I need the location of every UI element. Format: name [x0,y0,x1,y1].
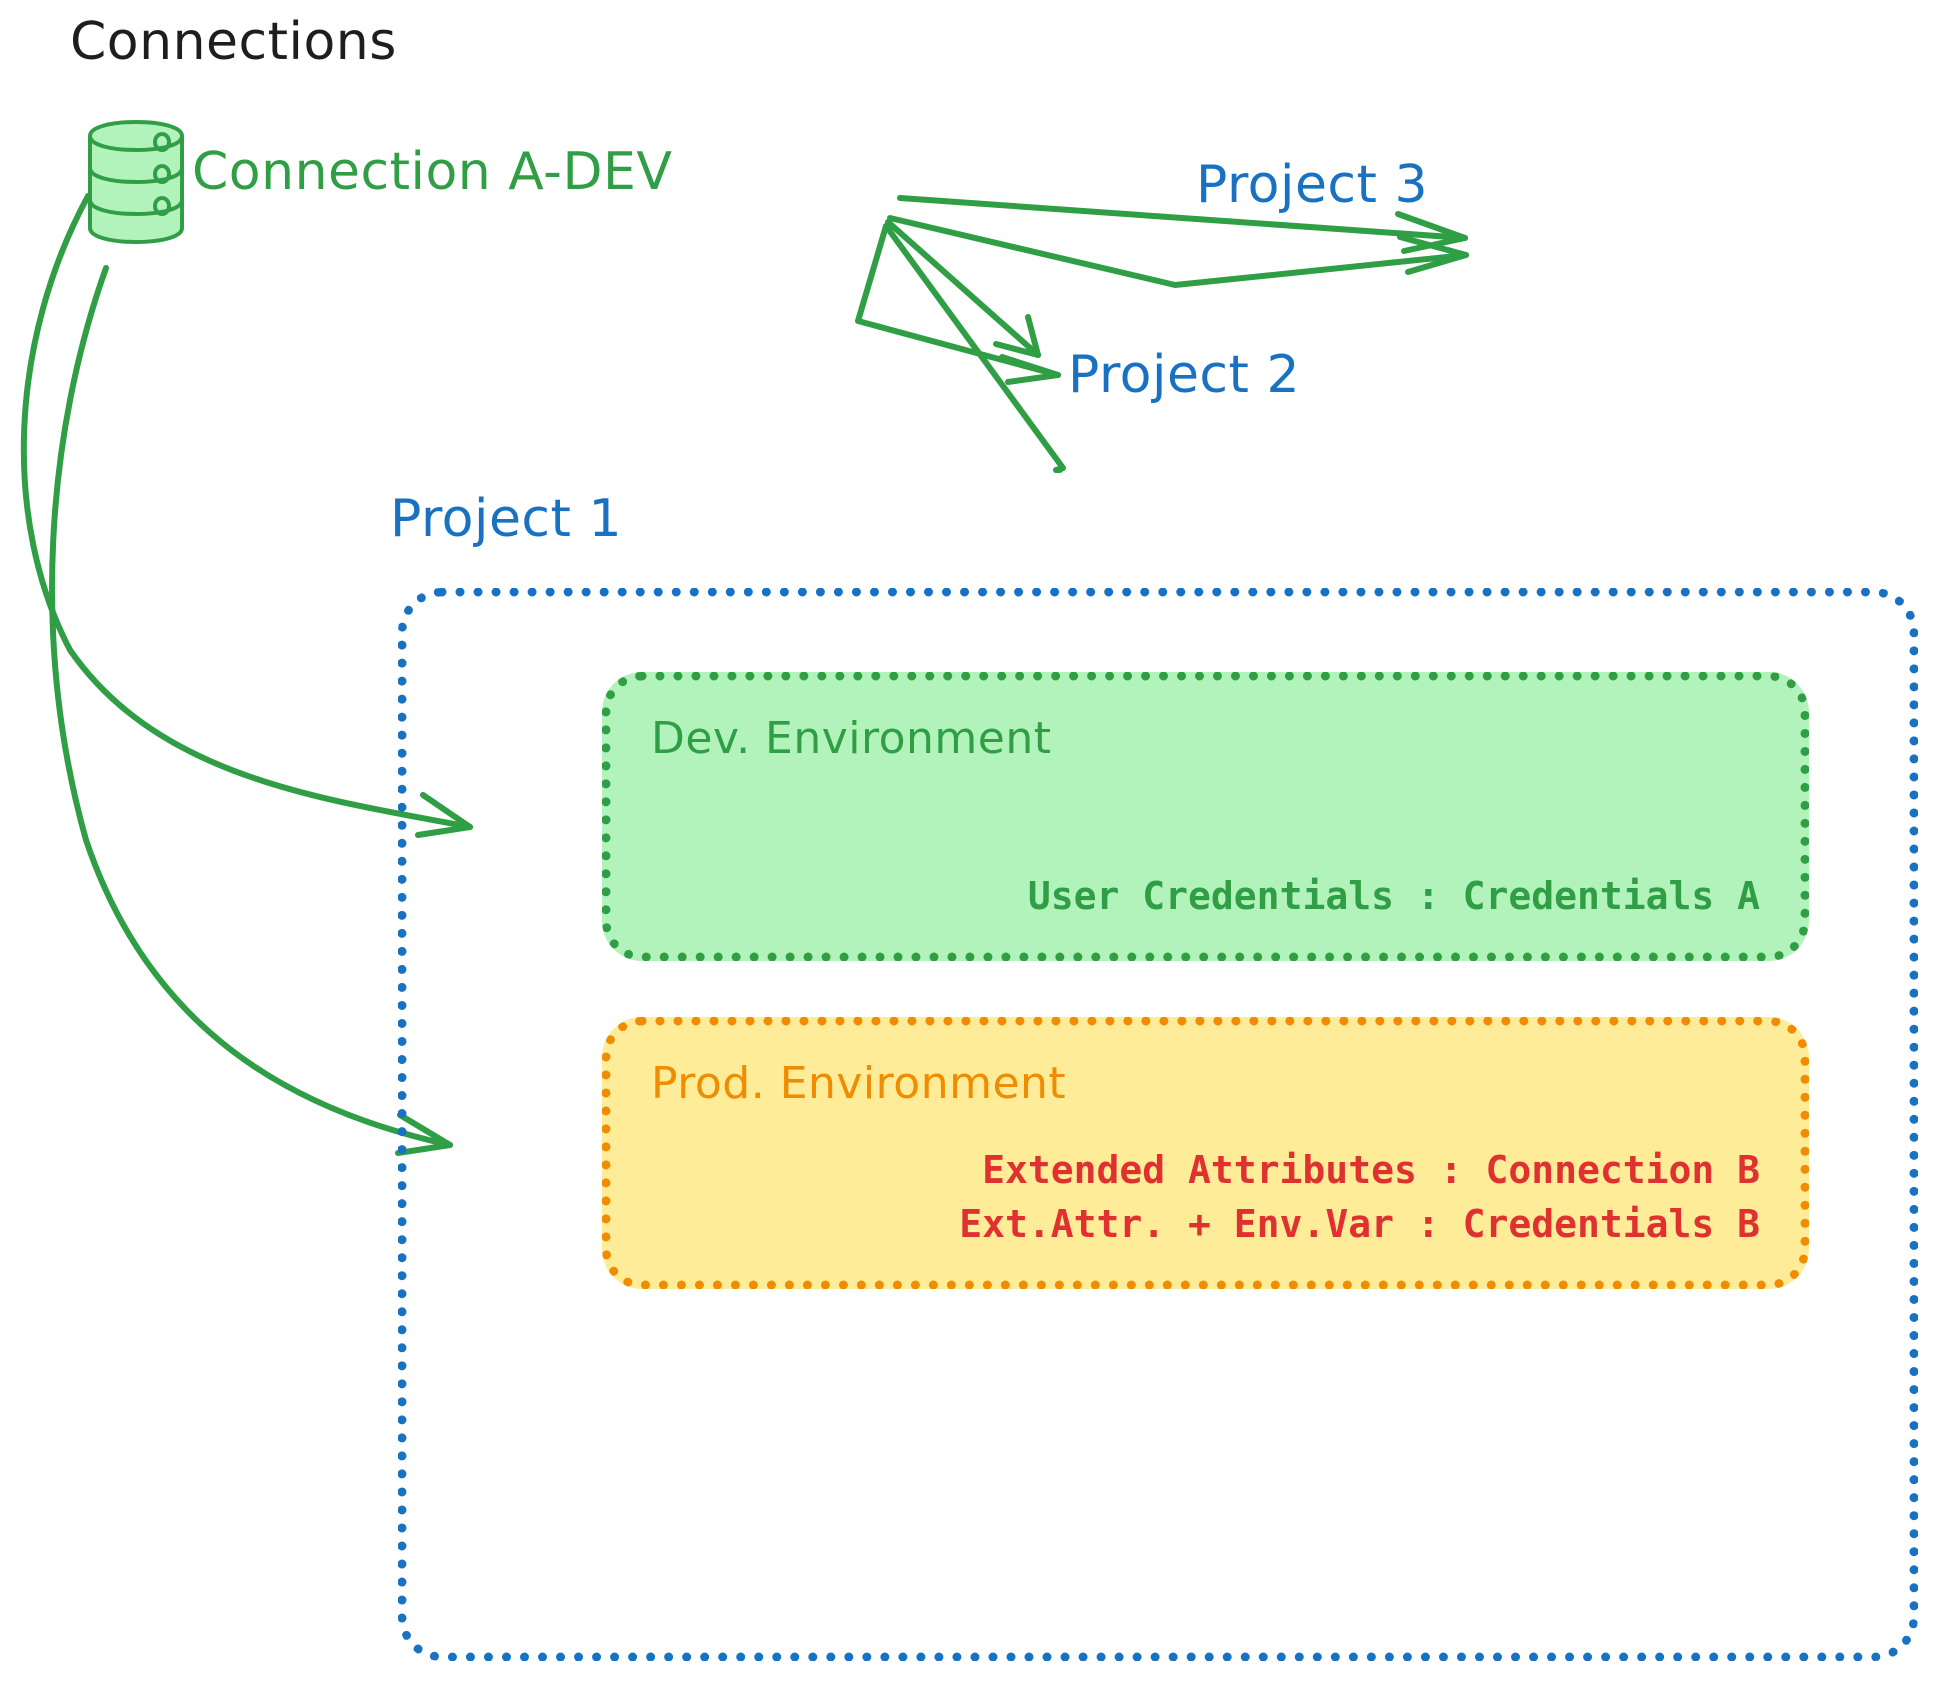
arrow-conn-to-project2-upper [888,222,1038,355]
project-1-label: Project 1 [390,489,622,549]
prod-environment-title: Prod. Environment [651,1058,1066,1109]
arrow-conn-to-project2-lower [858,226,1063,470]
page-title: Connections [70,12,397,72]
database-icon [84,118,188,246]
prod-environment-line-2: Ext.Attr. + Env.Var : Credentials B [959,1198,1760,1252]
prod-environment-box: Prod. Environment Extended Attributes : … [602,1017,1809,1289]
project-2-label: Project 2 [1068,345,1300,405]
arrow-db-to-prod-environment [52,268,450,1153]
prod-environment-attributes: Extended Attributes : Connection B Ext.A… [959,1144,1760,1252]
diagram-canvas: Connections Connection A-DEV [0,0,1938,1691]
dev-environment-line: User Credentials : Credentials A [1028,870,1760,924]
project-3-label: Project 3 [1196,155,1428,215]
dev-environment-box: Dev. Environment User Credentials : Cred… [602,672,1809,961]
dev-environment-title: Dev. Environment [651,713,1052,764]
arrow-conn-to-project3-lower [890,218,1466,285]
dev-environment-attributes: User Credentials : Credentials A [1028,870,1760,924]
prod-environment-line-1: Extended Attributes : Connection B [959,1144,1760,1198]
connection-label: Connection A-DEV [192,142,672,202]
